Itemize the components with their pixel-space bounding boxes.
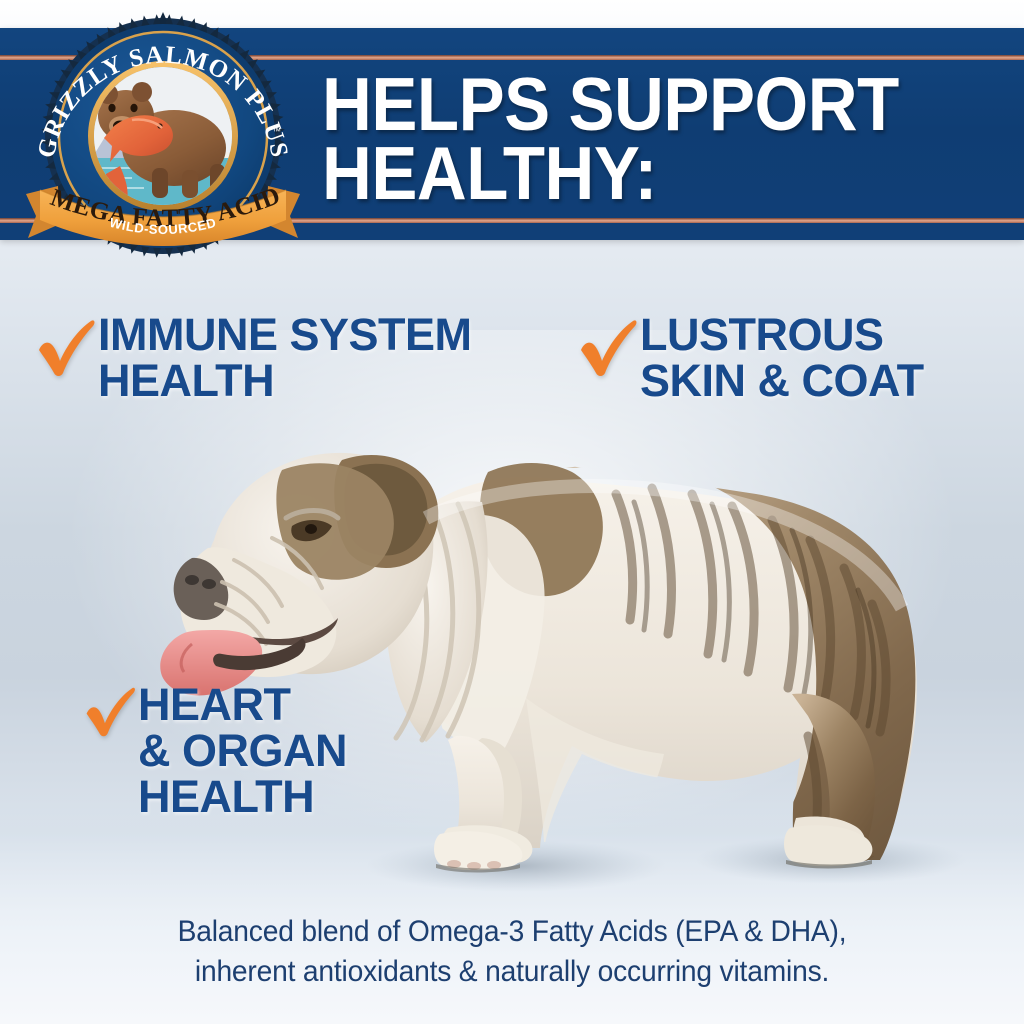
benefit-label: LUSTROUS SKIN & COAT bbox=[640, 312, 924, 404]
product-caption: Balanced blend of Omega-3 Fatty Acids (E… bbox=[31, 912, 994, 991]
brand-logo: GRIZZLY SALMON PLUS ™ OMEGA FATTY ACIDS … bbox=[14, 8, 312, 260]
benefit-heart-organ-health: HEART & ORGAN HEALTH bbox=[84, 682, 347, 820]
product-benefits-poster: HELPS SUPPORT HEALTHY: bbox=[0, 0, 1024, 1024]
check-icon bbox=[578, 316, 640, 378]
check-icon bbox=[84, 684, 138, 738]
benefit-immune-system-health: IMMUNE SYSTEM HEALTH bbox=[36, 312, 472, 404]
benefit-label: IMMUNE SYSTEM HEALTH bbox=[98, 312, 472, 404]
bulldog-photo bbox=[96, 398, 976, 918]
logo-trademark: ™ bbox=[272, 126, 281, 136]
page-title: HELPS SUPPORT HEALTHY: bbox=[322, 70, 940, 208]
benefit-label: HEART & ORGAN HEALTH bbox=[138, 682, 347, 820]
check-icon bbox=[36, 316, 98, 378]
benefit-lustrous-skin-coat: LUSTROUS SKIN & COAT bbox=[578, 312, 924, 404]
